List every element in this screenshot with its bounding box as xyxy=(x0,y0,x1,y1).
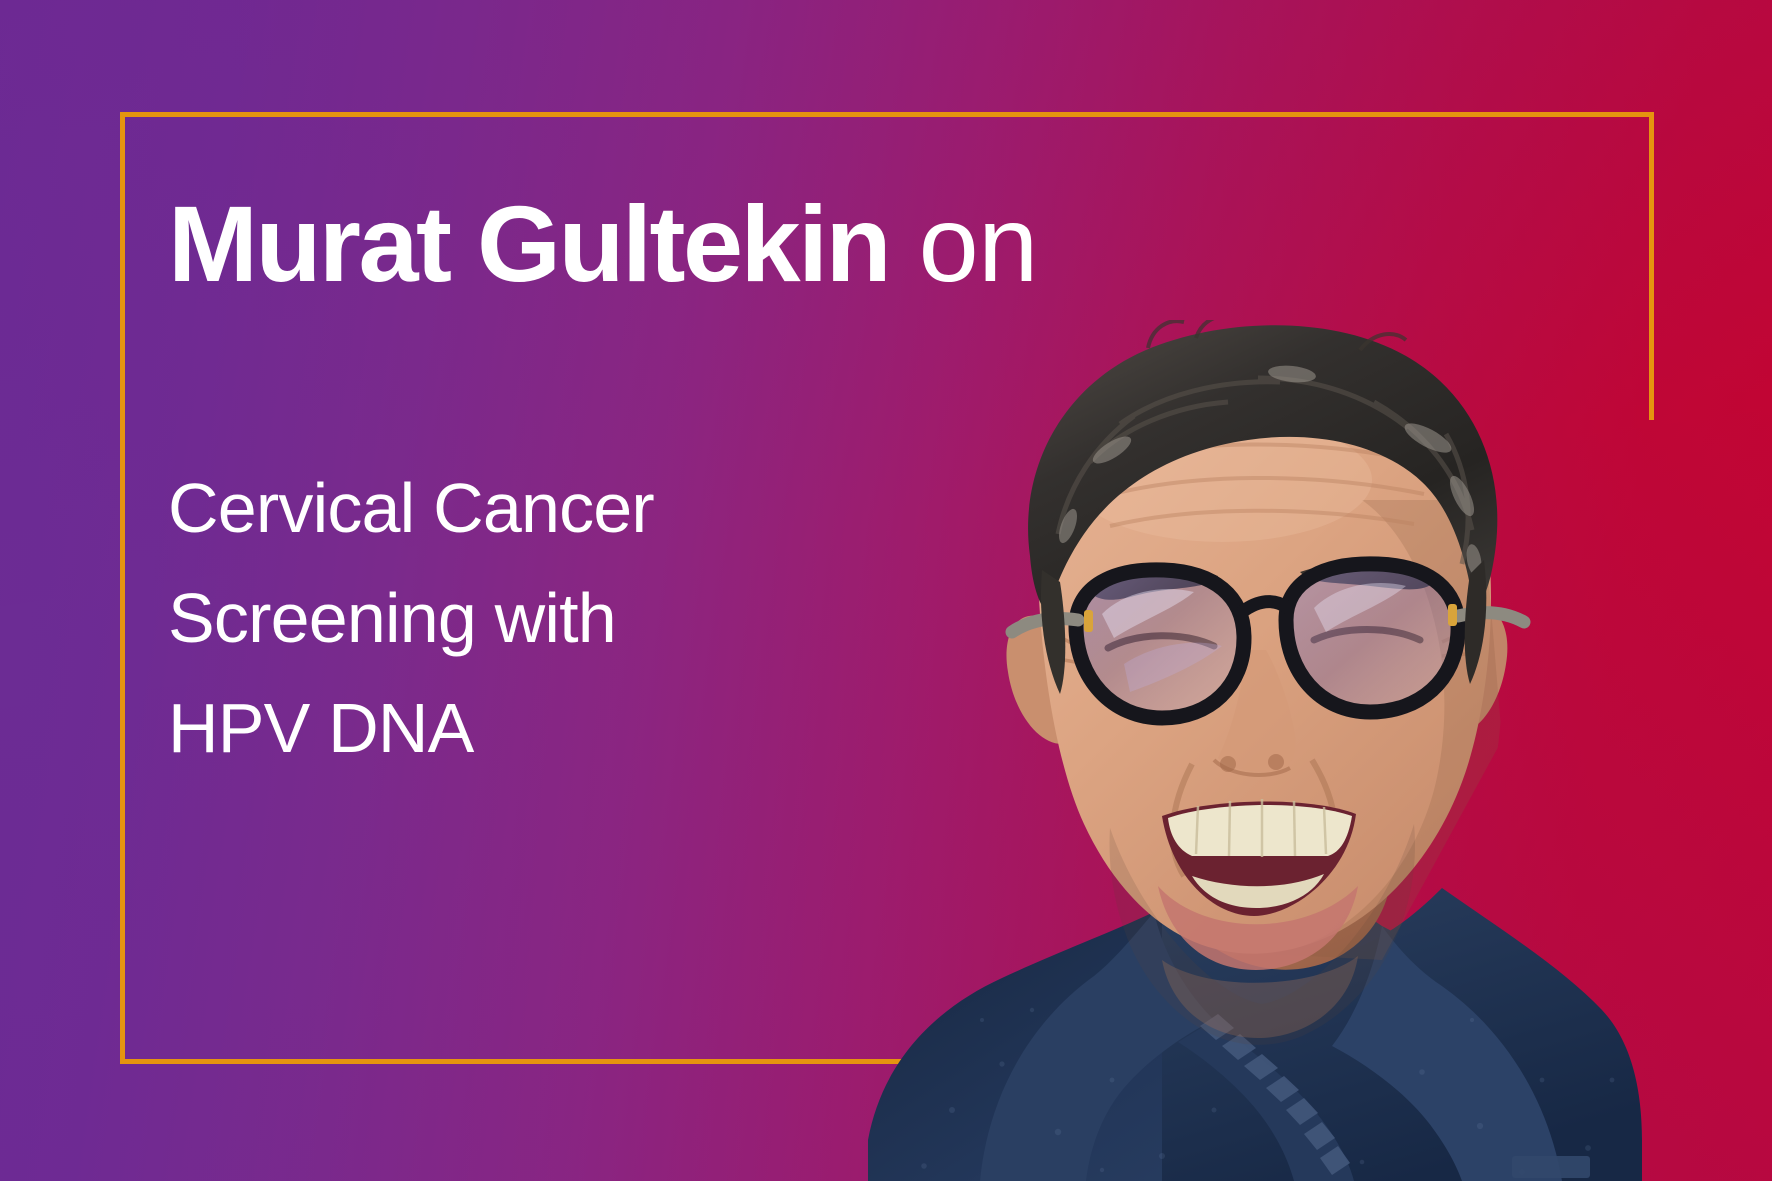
subtitle-line-1: Cervical Cancer xyxy=(168,454,928,564)
frame-border-bottom xyxy=(120,1059,948,1064)
frame-border-right xyxy=(1649,112,1654,420)
frame-border-top xyxy=(120,112,1654,117)
text-block: Murat Gultekin on Cervical Cancer Screen… xyxy=(168,190,1248,298)
subtitle-line-2: Screening with xyxy=(168,564,928,674)
headline-suffix: on xyxy=(889,183,1038,304)
subtitle-line-3: HPV DNA xyxy=(168,674,928,784)
headline-speaker-name: Murat Gultekin xyxy=(168,183,889,304)
frame-border-left xyxy=(120,112,125,1064)
subtitle: Cervical Cancer Screening with HPV DNA xyxy=(168,454,928,784)
headline: Murat Gultekin on xyxy=(168,190,1248,298)
promo-banner: Murat Gultekin on Cervical Cancer Screen… xyxy=(0,0,1772,1181)
